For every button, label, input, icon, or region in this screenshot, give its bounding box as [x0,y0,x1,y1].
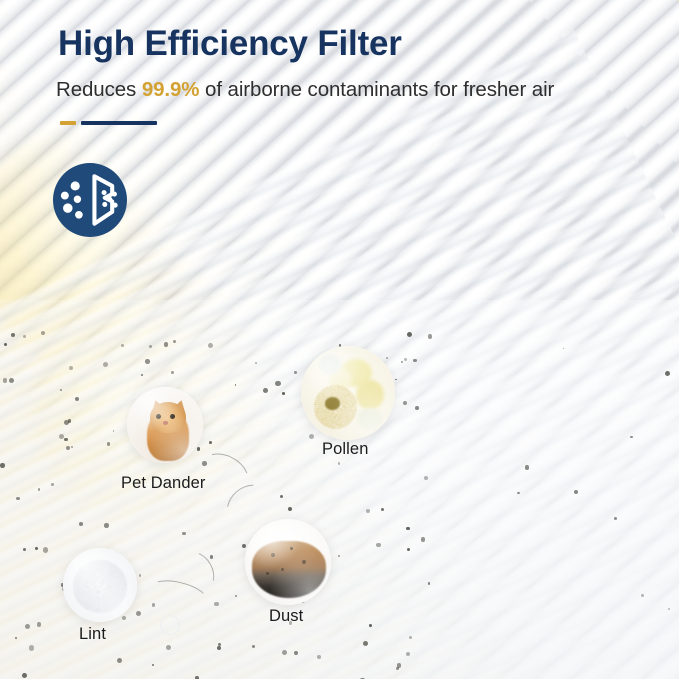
contaminant-bubble-lint [63,548,137,622]
filter-particle-badge [53,163,127,237]
pollen-photo [301,346,395,440]
contaminant-bubble-pet-dander [127,387,203,463]
contaminant-label-dust: Dust [269,607,303,626]
page-title: High Efficiency Filter [58,24,402,64]
filter-ring-detail [160,615,180,635]
contaminant-label-pollen: Pollen [322,440,368,459]
subtitle-suffix: of airborne contaminants for fresher air [199,78,554,101]
cat-nose [163,421,168,425]
contaminant-label-pet-dander: Pet Dander [121,474,205,493]
divider-gold-segment [60,121,76,125]
dust-pile [252,541,326,598]
divider-navy-segment [81,121,157,125]
contaminant-bubble-dust [245,519,331,605]
lint-fibers [73,560,126,613]
pollen-grain [356,380,384,410]
subtitle: Reduces 99.9% of airborne contaminants f… [56,78,554,102]
divider [60,121,157,125]
dust-photo [245,519,331,605]
subtitle-prefix: Reduces [56,78,142,101]
lint-photo [63,548,137,622]
pollen-grain [357,408,381,429]
product-feature-image: High Efficiency Filter Reduces 99.9% of … [0,0,679,679]
efficiency-percent: 99.9% [142,78,200,101]
contaminant-bubble-pollen [301,346,395,440]
cat-photo [127,387,203,463]
contaminant-label-lint: Lint [79,625,106,644]
pollen-core [325,397,340,410]
